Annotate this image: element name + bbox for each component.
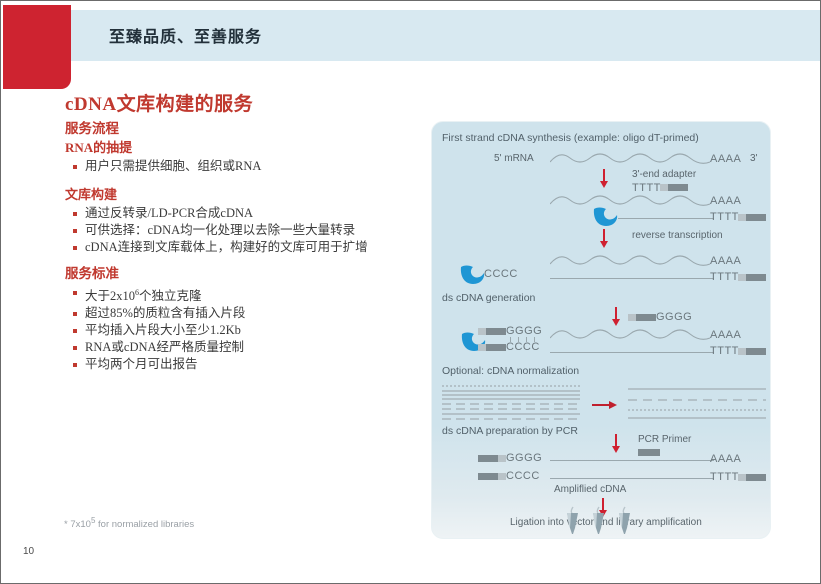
adapter-bar-9 [478, 473, 506, 480]
base-pair-tick [526, 337, 527, 342]
mrna-wavy-strand-3 [550, 252, 714, 268]
base-pair-tick [534, 337, 535, 342]
list-item: 大于2x106个独立克隆 [73, 284, 425, 305]
header-title: 至臻品质、至善服务 [109, 23, 262, 47]
subsection-heading-library-construction: 文库构建 [65, 186, 425, 203]
diagram-pcr-primer-label: PCR Primer [638, 434, 691, 445]
list-item-text: 大于2x10 [85, 289, 135, 303]
cdna-bands-after-normalization [628, 384, 766, 424]
bullet-list-rna-extraction: 用户只需提供细胞、组织或RNA [65, 158, 425, 175]
diagram-tttt-label-3: TTTT [710, 271, 739, 283]
footnote-text: * 7x10 [64, 519, 91, 530]
diagram-cccc-left-label: CCCC [506, 341, 540, 353]
subsection-heading-rna-extraction: RNA的抽提 [65, 139, 425, 156]
cdna-strand-line-1 [618, 218, 714, 219]
cdna-strand-line-2 [550, 278, 714, 279]
section-heading-standards: 服务标准 [65, 265, 425, 282]
list-item: 用户只需提供细胞、组织或RNA [73, 158, 425, 175]
adapter-bar-7 [738, 348, 766, 355]
diagram-amplified-cdna-label: Ampliflied cDNA [554, 484, 626, 495]
list-item: cDNA连接到文库载体上，构建好的文库可用于扩增 [73, 239, 425, 256]
base-pair-tick [510, 337, 511, 342]
list-item: 超过85%的质粒含有插入片段 [73, 305, 425, 322]
pcr-primer-bar [638, 449, 660, 456]
pcr-strand-line-bottom [550, 478, 714, 479]
diagram-cccc-label-1: CCCC [484, 268, 518, 280]
diagram-aaaa-label-2: AAAA [710, 195, 741, 207]
diagram-step2-title: ds cDNA generation [442, 292, 535, 304]
mrna-wavy-strand-2 [550, 192, 714, 208]
footnote-text-cont: for normalized libraries [95, 519, 194, 530]
diagram-aaaa-label-3: AAAA [710, 255, 741, 267]
adapter-bar-10 [738, 474, 766, 481]
bullet-list-library-construction: 通过反转录/LD-PCR合成cDNA 可供选择：cDNA均一化处理以去除一些大量… [65, 205, 425, 256]
adapter-bar-3 [738, 274, 766, 281]
page-number: 10 [23, 546, 34, 557]
section-heading-process: 服务流程 [65, 120, 425, 137]
footnote: * 7x105 for normalized libraries [64, 516, 194, 530]
diagram-3end-adapter-label: 3'-end adapter [632, 169, 696, 180]
diagram-aaaa-label-4: AAAA [710, 329, 741, 341]
diagram-tttt-label-4: TTTT [710, 345, 739, 357]
page-title: cDNA文库构建的服务 [65, 89, 253, 116]
diagram-step3-title: Optional: cDNA normalization [442, 365, 579, 377]
diagram-gggg-pcr-label: GGGG [506, 452, 542, 464]
list-item: RNA或cDNA经严格质量控制 [73, 339, 425, 356]
diagram-gggg-left-label: GGGG [506, 325, 542, 337]
diagram-aaaa-label-1: AAAA [710, 153, 741, 165]
list-item: 平均两个月可出报告 [73, 356, 425, 373]
brand-red-block [3, 5, 71, 89]
slide: 至臻品质、至善服务 cDNA文库构建的服务 服务流程 RNA的抽提 用户只需提供… [0, 0, 821, 584]
microcentrifuge-tubes-icon [565, 504, 645, 539]
diagram-step1-title: First strand cDNA synthesis (example: ol… [442, 132, 699, 144]
content-column: 服务流程 RNA的抽提 用户只需提供细胞、组织或RNA 文库构建 通过反转录/L… [65, 120, 425, 373]
diagram-cccc-pcr-label: CCCC [506, 470, 540, 482]
list-item: 平均插入片段大小至少1.2Kb [73, 322, 425, 339]
mrna-wavy-strand-1 [550, 150, 714, 166]
reverse-transcriptase-enzyme-icon-1 [592, 206, 620, 228]
diagram-aaaa-label-5: AAAA [710, 453, 741, 465]
adapter-bar-2 [738, 214, 766, 221]
diagram-reverse-transcription-label: reverse transcription [632, 230, 723, 241]
reverse-transcriptase-enzyme-icon-2 [459, 264, 487, 286]
adapter-bar-6 [478, 344, 506, 351]
workflow-diagram-panel: First strand cDNA synthesis (example: ol… [431, 121, 771, 539]
mrna-wavy-strand-4 [550, 326, 714, 342]
list-item-text-cont: 个独立克隆 [139, 289, 202, 303]
diagram-gggg-top-label: GGGG [656, 311, 692, 323]
base-pair-tick [518, 337, 519, 342]
list-item: 通过反转录/LD-PCR合成cDNA [73, 205, 425, 222]
diagram-3prime-label: 3' [750, 153, 757, 164]
adapter-bar-5 [478, 328, 506, 335]
diagram-5prime-mrna-label: 5' mRNA [494, 153, 534, 164]
cdna-strand-line-3 [550, 352, 714, 353]
cdna-bands-before-normalization [442, 384, 580, 424]
pcr-strand-line-top [550, 460, 714, 461]
list-item: 可供选择：cDNA均一化处理以去除一些大量转录 [73, 222, 425, 239]
adapter-bar-4 [628, 314, 656, 321]
diagram-step4-title: ds cDNA preparation by PCR [442, 425, 578, 437]
diagram-tttt-label-2: TTTT [710, 211, 739, 223]
adapter-bar-1 [660, 184, 688, 191]
diagram-tttt-label-5: TTTT [710, 471, 739, 483]
bullet-list-standards: 大于2x106个独立克隆 超过85%的质粒含有插入片段 平均插入片段大小至少1.… [65, 284, 425, 373]
adapter-bar-8 [478, 455, 506, 462]
